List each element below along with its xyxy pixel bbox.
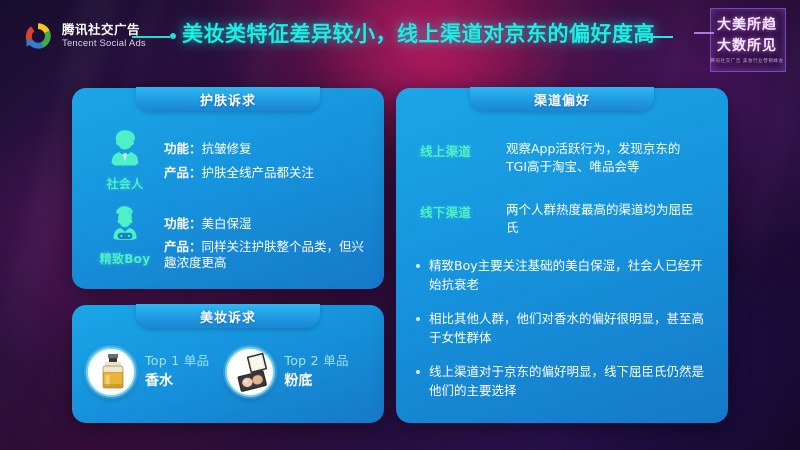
persona-figure: 社会人 (94, 128, 156, 192)
channel-description: 观察App活跃行为，发现京东的TGI高于淘宝、唯品会等 (506, 140, 698, 176)
list-item: 精致Boy主要关注基础的美白保湿，社会人已经开始抗衰老 (416, 256, 708, 294)
card-beauty-title: 美妆诉求 (200, 307, 256, 326)
list-item: 相比其他人群，他们对香水的偏好很明显，甚至高于女性群体 (416, 309, 708, 347)
bullet-dot-icon (416, 370, 420, 374)
card-skincare-needs: 护肤诉求 (72, 88, 384, 289)
persona-attribute-value: 美白保湿 (202, 216, 252, 231)
persona-attribute-value: 护肤全线产品都关注 (202, 165, 315, 180)
card-skincare-header: 护肤诉求 (136, 87, 320, 111)
persona-attribute-label: 产品： (164, 239, 202, 254)
card-beauty-needs: 美妆诉求 (72, 305, 384, 423)
beauty-product-rank: Top 1 单品 (145, 353, 209, 369)
young-man-icon (103, 203, 147, 249)
persona-attribute-label: 产品： (164, 165, 202, 180)
brand-logo: 腾讯社交广告 Tencent Social Ads (22, 20, 146, 52)
channel-description: 两个人群热度最高的渠道均为屈臣氏 (506, 201, 698, 237)
persona-row: 精致Boy 功能：美白保湿 产品：同样关注护肤整个品类，但兴趣浓度更高 (94, 203, 374, 278)
persona-attribute-row: 产品：同样关注护肤整个品类，但兴趣浓度更高 (164, 239, 374, 271)
title-leader-line (132, 36, 170, 38)
bullet-dot-icon (416, 264, 420, 268)
businessman-icon (103, 128, 147, 174)
beauty-product-name: 香水 (145, 373, 209, 391)
list-item: 线上渠道对于京东的偏好明显，线下屈臣氏仍然是他们的主要选择 (416, 362, 708, 400)
beauty-product-name: 粉底 (284, 373, 348, 391)
brand-name-en: Tencent Social Ads (62, 39, 146, 49)
channel-row: 线下渠道 两个人群热度最高的渠道均为屈臣氏 (420, 201, 698, 237)
tencent-social-ads-logo-icon (22, 20, 54, 52)
card-channel-preference: 渠道偏好 线上渠道 观察App活跃行为，发现京东的TGI高于淘宝、唯品会等 线下… (396, 88, 728, 423)
brand-name-cn: 腾讯社交广告 (62, 24, 146, 37)
persona-attribute-row: 产品：护肤全线产品都关注 (164, 164, 314, 181)
slide-header: 腾讯社交广告 Tencent Social Ads 美妆类特征差异较小，线上渠道… (0, 0, 800, 72)
title-trailing-line (647, 36, 673, 38)
page-title: 美妆类特征差异较小，线上渠道对京东的偏好度高 (182, 18, 655, 48)
beauty-top-products: Top 1 单品 香水 (86, 347, 349, 397)
bullet-dot-icon (416, 317, 420, 321)
persona-attribute-label: 功能： (164, 141, 202, 156)
persona-attribute-label: 功能： (164, 216, 202, 231)
beauty-product-meta: Top 1 单品 香水 (145, 353, 209, 390)
insight-text: 线上渠道对于京东的偏好明显，线下屈臣氏仍然是他们的主要选择 (429, 362, 708, 400)
persona-attribute-row: 功能：美白保湿 (164, 215, 374, 232)
persona-attributes: 功能：美白保湿 产品：同样关注护肤整个品类，但兴趣浓度更高 (164, 203, 374, 278)
key-visual-line-1: 大美所趋 (717, 14, 777, 34)
channel-row: 线上渠道 观察App活跃行为，发现京东的TGI高于淘宝、唯品会等 (420, 140, 698, 176)
channel-insight-list: 精致Boy主要关注基础的美白保湿，社会人已经开始抗衰老 相比其他人群，他们对香水… (416, 256, 708, 415)
persona-figure: 精致Boy (94, 203, 156, 267)
channel-label: 线下渠道 (420, 201, 492, 237)
card-beauty-header: 美妆诉求 (136, 304, 320, 328)
persona-attribute-value: 抗皱修复 (202, 141, 252, 156)
channel-label: 线上渠道 (420, 140, 492, 176)
title-bullet-dot (170, 33, 176, 39)
persona-row: 社会人 功能：抗皱修复 产品：护肤全线产品都关注 (94, 128, 314, 192)
persona-name: 精致Boy (94, 250, 156, 267)
key-visual-line-2: 大数所见 (717, 35, 777, 55)
perfume-bottle-icon (86, 347, 136, 397)
persona-attribute-row: 功能：抗皱修复 (164, 140, 314, 157)
insight-text: 相比其他人群，他们对香水的偏好很明显，甚至高于女性群体 (429, 309, 708, 347)
persona-name: 社会人 (94, 175, 156, 192)
card-channel-title: 渠道偏好 (534, 90, 590, 109)
card-channel-header: 渠道偏好 (470, 87, 654, 111)
card-skincare-title: 护肤诉求 (200, 90, 256, 109)
compact-powder-icon (225, 347, 275, 397)
insight-text: 精致Boy主要关注基础的美白保湿，社会人已经开始抗衰老 (429, 256, 708, 294)
persona-attributes: 功能：抗皱修复 产品：护肤全线产品都关注 (164, 128, 314, 188)
beauty-product-meta: Top 2 单品 粉底 (284, 353, 348, 390)
event-key-visual: 大美所趋 大数所见 腾讯社交广告 美妆行业营销峰会 (700, 4, 786, 74)
key-visual-subtitle: 腾讯社交广告 美妆行业营销峰会 (710, 58, 783, 64)
beauty-product-rank: Top 2 单品 (284, 353, 348, 369)
beauty-product-item: Top 1 单品 香水 (86, 347, 209, 397)
beauty-product-item: Top 2 单品 粉底 (225, 347, 348, 397)
